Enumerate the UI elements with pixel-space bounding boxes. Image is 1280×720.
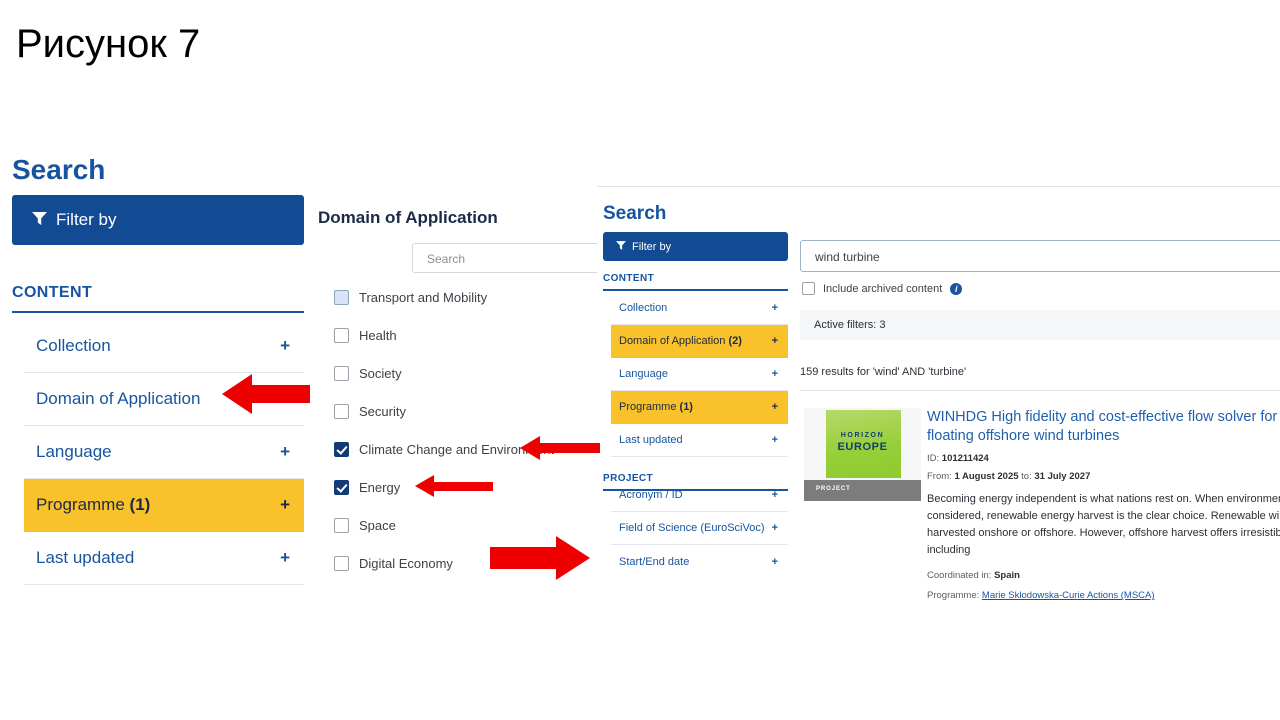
result-description: Becoming energy independent is what nati… [927,491,1280,559]
sidebar-page-title: Search [603,203,666,225]
arrow-climate-change-checkbox [520,434,600,462]
sidebar-project-facets: Acronym / ID + Field of Science (EuroSci… [611,479,788,578]
facet-label-text: Domain of Application [619,335,725,347]
option-label: Transport and Mobility [359,290,487,305]
expand-icon: + [772,401,778,413]
search-query-input[interactable]: wind turbine [800,240,1280,272]
programme-link[interactable]: Marie Sklodowska-Curie Actions (MSCA) [982,590,1155,600]
expand-icon: + [280,336,290,356]
facet-label: Domain of Application [36,389,200,409]
option-transport-and-mobility[interactable]: Transport and Mobility [334,278,614,316]
facet-count: (1) [680,401,693,413]
id-label: ID: [927,453,939,464]
facet-programme[interactable]: Programme (1) + [24,479,304,532]
results-panel: wind turbine Include archived content i … [795,196,1280,600]
filter-by-label: Filter by [56,210,116,230]
facet-label: Domain of Application (2) [619,335,742,347]
facet-collection[interactable]: Collection + [24,320,304,373]
expand-icon: + [772,368,778,380]
domain-search-placeholder: Search [427,252,465,266]
expand-icon: + [280,548,290,568]
expand-icon: + [772,489,778,501]
result-type-label: PROJECT [816,486,851,492]
option-label: Energy [359,480,400,495]
coordinated-value: Spain [994,570,1020,581]
to-value: 31 July 2027 [1034,471,1090,482]
facet-count: (2) [728,335,741,347]
sidebar-content-heading: CONTENT [603,273,788,291]
left-filter-panel: Search Filter by CONTENT Collection + Do… [0,140,320,600]
result-count-label: 159 results for 'wind' AND 'turbine' [800,366,1280,391]
checkbox[interactable] [334,328,349,343]
facet-label: Language [36,442,112,462]
facet-count: (1) [130,495,151,514]
result-card-body: WINHDG High fidelity and cost-effective … [927,408,1280,600]
facet-label: Collection [619,302,667,314]
from-value: 1 August 2025 [954,471,1018,482]
facet-label: Language [619,368,668,380]
sidebar-facet-domain-of-application[interactable]: Domain of Application (2) + [611,325,788,358]
checkbox[interactable] [334,290,349,305]
info-icon[interactable]: i [950,283,962,295]
domain-panel-title: Domain of Application [318,208,498,228]
facet-label: Last updated [619,434,683,446]
sidebar-content-facets: Collection + Domain of Application (2) +… [611,292,788,457]
arrow-domain-of-application [222,372,310,416]
result-coordinated-row: Coordinated in: Spain [927,570,1280,581]
europe-label: EUROPE [804,441,921,453]
checkbox[interactable] [334,518,349,533]
expand-icon: + [280,442,290,462]
expand-icon: + [772,556,778,568]
option-label: Health [359,328,397,343]
sidebar-facet-last-updated[interactable]: Last updated + [611,424,788,457]
option-label: Space [359,518,396,533]
option-health[interactable]: Health [334,316,614,354]
slide-title: Рисунок 7 [16,22,200,66]
facet-label-text: Programme [36,495,125,514]
sidebar-facet-field-of-science[interactable]: Field of Science (EuroSciVoc) + [611,512,788,545]
filter-by-header[interactable]: Filter by [12,195,304,245]
sidebar-facet-start-end-date[interactable]: Start/End date + [611,545,788,578]
checkbox[interactable] [334,556,349,571]
page-title: Search [12,154,105,186]
checkbox[interactable] [802,282,815,295]
sidebar-facet-acronym-id[interactable]: Acronym / ID + [611,479,788,512]
include-archived-row[interactable]: Include archived content i [802,282,962,295]
id-value: 101211424 [942,453,989,464]
expand-icon: + [280,495,290,515]
left-facet-list: Collection + Domain of Application Langu… [24,320,304,585]
programme-label: Programme: [927,590,979,600]
sidebar-filter-by-header[interactable]: Filter by [603,232,788,261]
expand-icon: + [772,302,778,314]
result-type-band: PROJECT [804,480,921,501]
checkbox[interactable] [334,480,349,495]
facet-label-text: Programme [619,401,676,413]
option-society[interactable]: Society [334,354,614,392]
expand-icon: + [772,335,778,347]
facet-label: Acronym / ID [619,489,683,501]
option-label: Society [359,366,402,381]
checkbox[interactable] [334,366,349,381]
result-thumbnail: HORIZON EUROPE PROJECT [804,408,921,501]
option-label: Digital Economy [359,556,453,571]
from-label: From: [927,471,952,482]
result-id-row: ID: 101211424 [927,453,1280,464]
horizon-label: HORIZON [804,432,921,439]
checkbox[interactable] [334,442,349,457]
facet-label: Field of Science (EuroSciVoc) [619,522,765,534]
expand-icon: + [772,434,778,446]
sidebar-facet-programme[interactable]: Programme (1) + [611,391,788,424]
funnel-icon [616,241,626,253]
funnel-icon [32,210,47,230]
content-section-heading: CONTENT [12,284,304,313]
arrow-energy-checkbox [415,474,493,498]
sidebar-facet-language[interactable]: Language + [611,358,788,391]
facet-language[interactable]: Language + [24,426,304,479]
to-label: to: [1021,471,1032,482]
active-filters-bar: Active filters: 3 [800,310,1280,340]
arrow-to-results [490,534,590,582]
option-security[interactable]: Security [334,392,614,430]
result-dates-row: From: 1 August 2025 to: 31 July 2027 [927,471,1280,482]
search-query-value: wind turbine [815,250,880,264]
option-label: Security [359,404,406,419]
include-archived-label: Include archived content [823,283,942,295]
filter-by-label: Filter by [632,241,671,253]
result-programme-row: Programme: Marie Sklodowska-Curie Action… [927,590,1280,600]
facet-label: Programme (1) [619,401,693,413]
facet-last-updated[interactable]: Last updated + [24,532,304,585]
slide: Рисунок 7 Search Filter by CONTENT Colle… [0,0,1280,720]
facet-label: Programme (1) [36,495,150,515]
facet-label: Start/End date [619,556,689,568]
sidebar-facet-collection[interactable]: Collection + [611,292,788,325]
expand-icon: + [772,522,778,534]
checkbox[interactable] [334,404,349,419]
coordinated-label: Coordinated in: [927,570,991,581]
result-title-link[interactable]: WINHDG High fidelity and cost-effective … [927,408,1280,446]
facet-label: Last updated [36,548,134,568]
facet-label: Collection [36,336,111,356]
